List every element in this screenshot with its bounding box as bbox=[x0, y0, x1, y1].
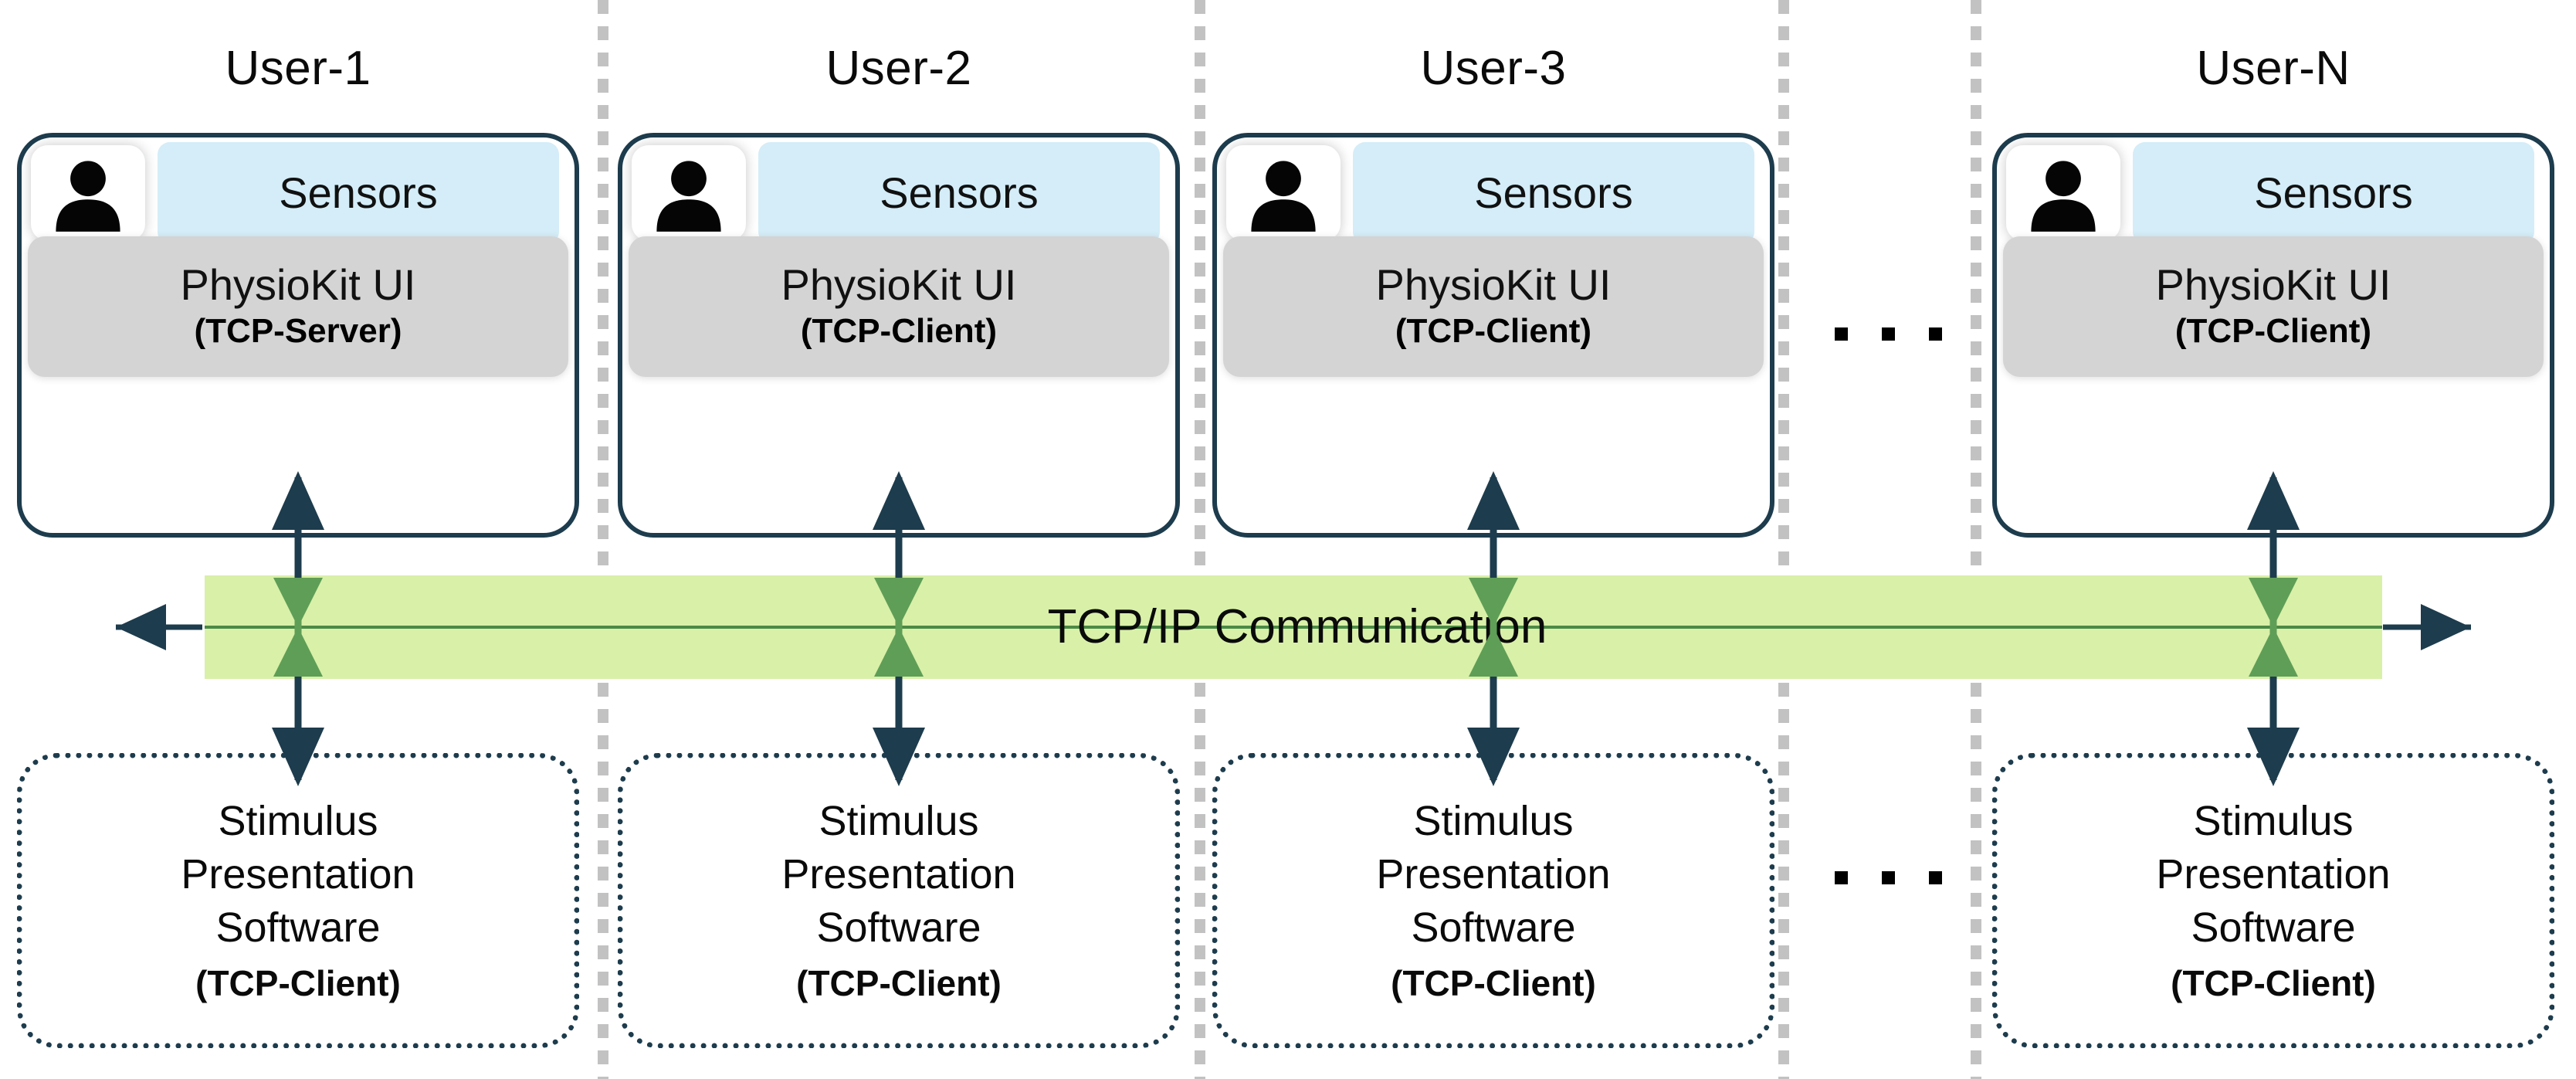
person-icon bbox=[632, 145, 746, 241]
stimulus-line-1: Stimulus bbox=[819, 795, 978, 848]
user-column-n: User-N Sensors PhysioKit UI (TCP-Client) bbox=[1992, 0, 2554, 1079]
stimulus-role: (TCP-Client) bbox=[2171, 961, 2376, 1006]
ellipsis-dot bbox=[1882, 871, 1895, 884]
stimulus-box: Stimulus Presentation Software (TCP-Clie… bbox=[17, 753, 579, 1048]
physiokit-ui-box: PhysioKit UI (TCP-Client) bbox=[1223, 236, 1764, 377]
ellipsis-dot bbox=[1835, 327, 1848, 341]
stimulus-line-1: Stimulus bbox=[2193, 795, 2353, 848]
panel-top-row: Sensors bbox=[1997, 137, 2550, 244]
stimulus-line-2: Presentation bbox=[2156, 848, 2390, 901]
sensors-box: Sensors bbox=[758, 142, 1160, 244]
user-column-1: User-1 Sensors PhysioKit UI (TCP-Server) bbox=[17, 0, 579, 1079]
stimulus-line-1: Stimulus bbox=[1413, 795, 1573, 848]
ellipsis-dot bbox=[1882, 327, 1895, 341]
user-title: User-3 bbox=[1212, 45, 1774, 93]
physiokit-ui-role: (TCP-Client) bbox=[801, 313, 997, 350]
panel-top-row: Sensors bbox=[22, 137, 575, 244]
panel-top-row: Sensors bbox=[1217, 137, 1770, 244]
ellipsis-top bbox=[1835, 327, 1942, 341]
stimulus-box: Stimulus Presentation Software (TCP-Clie… bbox=[1992, 753, 2554, 1048]
physiokit-ui-label: PhysioKit UI bbox=[781, 263, 1017, 308]
user-column-2: User-2 Sensors PhysioKit UI (TCP-Client) bbox=[618, 0, 1180, 1079]
column-separator-2 bbox=[1195, 0, 1205, 1079]
stimulus-line-1: Stimulus bbox=[218, 795, 378, 848]
sensors-label: Sensors bbox=[1474, 171, 1632, 215]
physiokit-ui-box: PhysioKit UI (TCP-Client) bbox=[629, 236, 1169, 377]
stimulus-line-2: Presentation bbox=[181, 848, 415, 901]
sensors-box: Sensors bbox=[2133, 142, 2534, 244]
column-separator-3 bbox=[1778, 0, 1789, 1079]
user-title: User-N bbox=[1992, 45, 2554, 93]
user-title: User-1 bbox=[17, 45, 579, 93]
ellipsis-dot bbox=[1929, 871, 1942, 884]
user-panel: Sensors PhysioKit UI (TCP-Server) bbox=[17, 133, 579, 538]
sensors-box: Sensors bbox=[158, 142, 559, 244]
user-title: User-2 bbox=[618, 45, 1180, 93]
stimulus-line-3: Software bbox=[816, 901, 981, 955]
user-panel: Sensors PhysioKit UI (TCP-Client) bbox=[1992, 133, 2554, 538]
person-icon bbox=[2006, 145, 2120, 241]
physiokit-ui-label: PhysioKit UI bbox=[2156, 263, 2391, 308]
stimulus-line-3: Software bbox=[2191, 901, 2355, 955]
sensors-label: Sensors bbox=[880, 171, 1038, 215]
physiokit-ui-label: PhysioKit UI bbox=[1376, 263, 1612, 308]
person-icon bbox=[31, 145, 145, 241]
ellipsis-bottom bbox=[1835, 871, 1942, 884]
physiokit-ui-role: (TCP-Client) bbox=[1395, 313, 1591, 350]
column-separator-1 bbox=[598, 0, 608, 1079]
stimulus-box: Stimulus Presentation Software (TCP-Clie… bbox=[1212, 753, 1774, 1048]
stimulus-role: (TCP-Client) bbox=[796, 961, 1002, 1006]
column-separator-4 bbox=[1971, 0, 1981, 1079]
diagram-canvas: TCP/IP Communication User-1 Sensors bbox=[0, 0, 2576, 1079]
user-column-3: User-3 Sensors PhysioKit UI (TCP-Client) bbox=[1212, 0, 1774, 1079]
user-panel: Sensors PhysioKit UI (TCP-Client) bbox=[618, 133, 1180, 538]
stimulus-line-2: Presentation bbox=[1376, 848, 1610, 901]
physiokit-ui-box: PhysioKit UI (TCP-Server) bbox=[28, 236, 568, 377]
sensors-box: Sensors bbox=[1353, 142, 1754, 244]
physiokit-ui-role: (TCP-Server) bbox=[195, 313, 402, 350]
stimulus-line-3: Software bbox=[215, 901, 380, 955]
person-icon bbox=[1226, 145, 1341, 241]
sensors-label: Sensors bbox=[2254, 171, 2412, 215]
panel-top-row: Sensors bbox=[622, 137, 1175, 244]
physiokit-ui-role: (TCP-Client) bbox=[2175, 313, 2371, 350]
stimulus-role: (TCP-Client) bbox=[195, 961, 401, 1006]
physiokit-ui-label: PhysioKit UI bbox=[181, 263, 416, 308]
sensors-label: Sensors bbox=[279, 171, 437, 215]
ellipsis-dot bbox=[1929, 327, 1942, 341]
stimulus-line-3: Software bbox=[1411, 901, 1575, 955]
physiokit-ui-box: PhysioKit UI (TCP-Client) bbox=[2003, 236, 2544, 377]
user-panel: Sensors PhysioKit UI (TCP-Client) bbox=[1212, 133, 1774, 538]
stimulus-line-2: Presentation bbox=[781, 848, 1015, 901]
stimulus-box: Stimulus Presentation Software (TCP-Clie… bbox=[618, 753, 1180, 1048]
stimulus-role: (TCP-Client) bbox=[1391, 961, 1596, 1006]
ellipsis-dot bbox=[1835, 871, 1848, 884]
